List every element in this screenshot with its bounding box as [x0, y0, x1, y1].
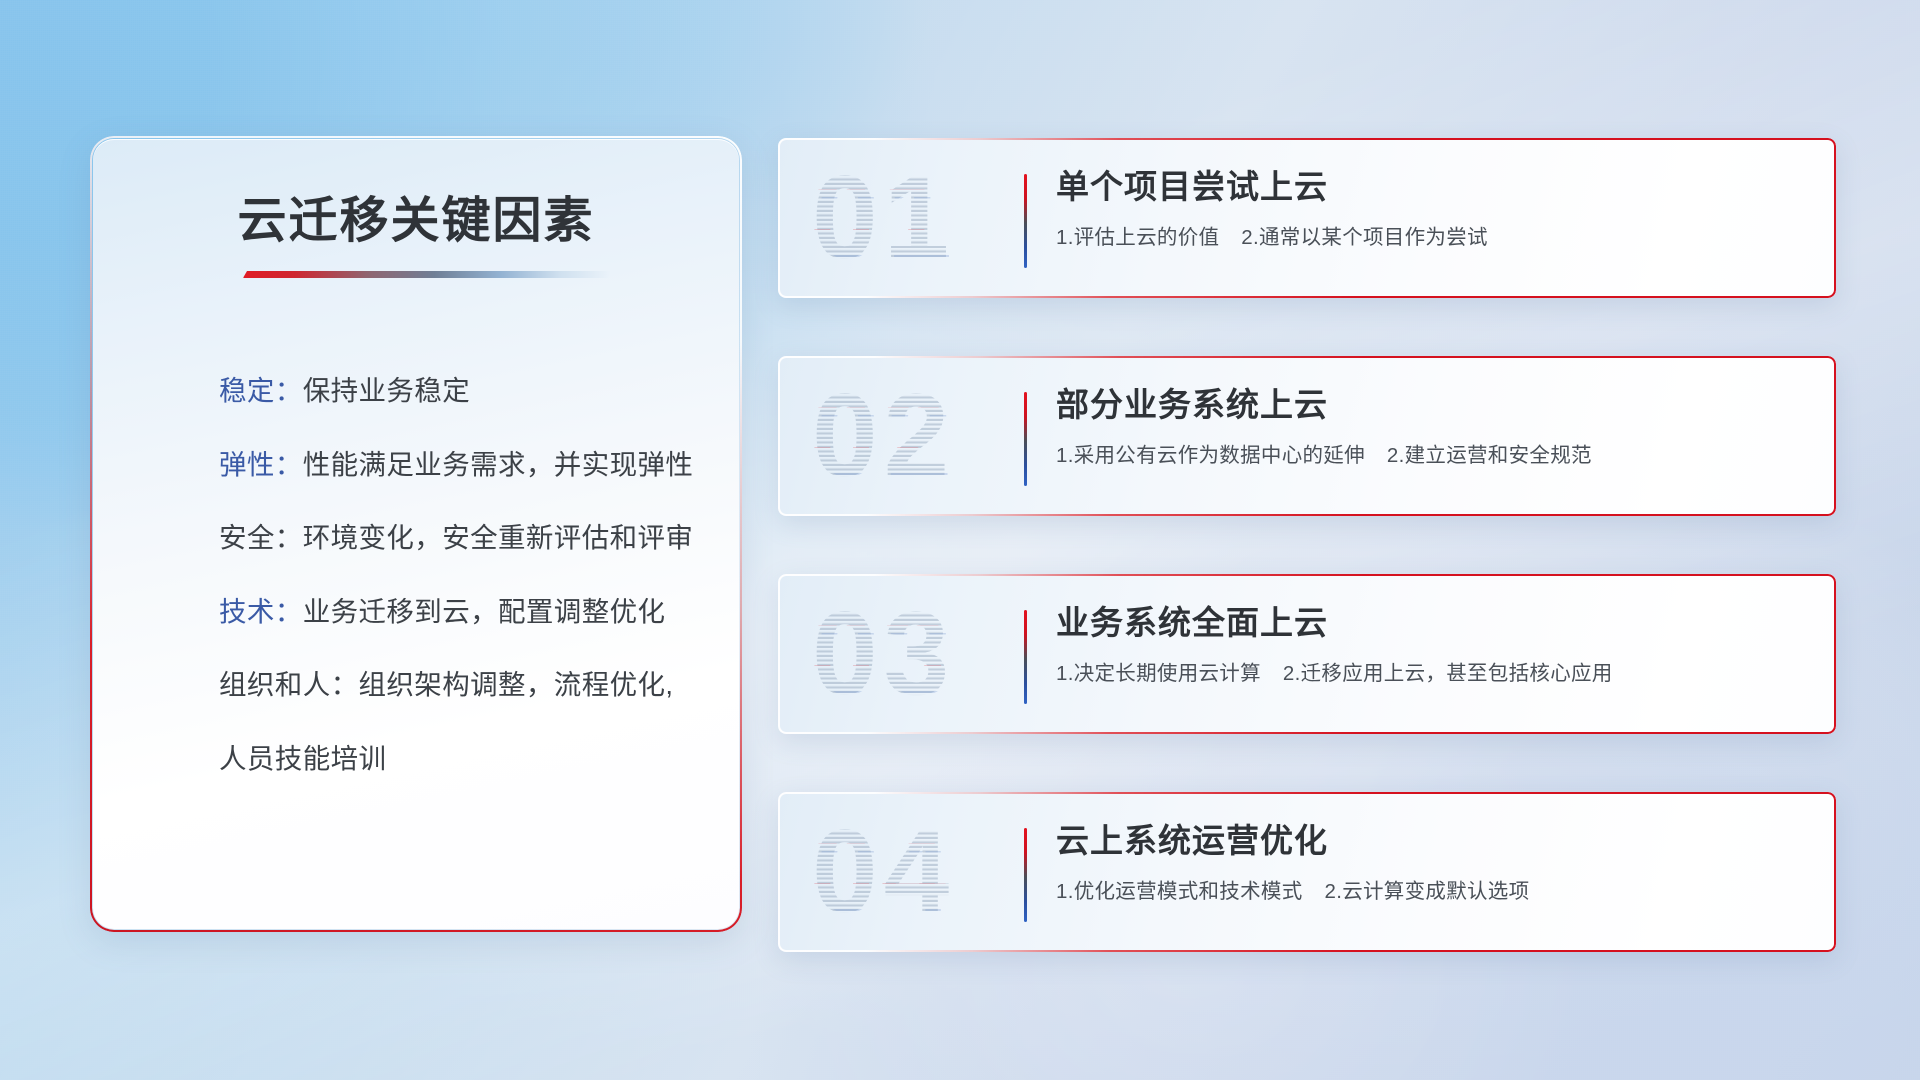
stage-number-glitch-blue: 01 — [815, 152, 1045, 284]
key-factor-row: 弹性：性能满足业务需求，并实现弹性 — [219, 451, 703, 479]
key-factor-text: 保持业务稳定 — [303, 375, 470, 406]
key-factor-label: 弹性： — [219, 449, 303, 480]
stage-accent-bar — [1024, 828, 1027, 922]
stage-point-1: 1.采用公有云作为数据中心的延伸 — [1056, 444, 1365, 467]
key-factor-text: 性能满足业务需求，并实现弹性 — [303, 449, 694, 480]
stage-number: 010101 — [812, 152, 1042, 284]
key-factor-label: 组织和人： — [219, 669, 359, 700]
stage-point-2: 2.建立运营和安全规范 — [1387, 444, 1592, 467]
stages-card-list: 010101单个项目尝试上云1.评估上云的价值2.通常以某个项目作为尝试0202… — [778, 138, 1836, 952]
stage-accent-bar — [1024, 610, 1027, 704]
stage-number-glitch-blue: 03 — [815, 588, 1045, 720]
stage-number-glitch-blue: 02 — [815, 370, 1045, 502]
stage-accent-bar — [1024, 174, 1027, 268]
page-title: 云迁移关键因素 — [93, 181, 739, 252]
stage-number: 030303 — [812, 588, 1042, 720]
stage-card[interactable]: 040404云上系统运营优化1.优化运营模式和技术模式2.云计算变成默认选项 — [778, 792, 1836, 952]
key-factor-text: 人员技能培训 — [219, 743, 386, 774]
title-divider — [243, 271, 611, 278]
stage-number: 040404 — [812, 806, 1042, 938]
key-factor-row: 安全：环境变化，安全重新评估和评审 — [219, 524, 703, 552]
stage-title: 单个项目尝试上云 — [1056, 168, 1810, 207]
stage-point-1: 1.优化运营模式和技术模式 — [1056, 880, 1303, 903]
stage-accent-bar — [1024, 392, 1027, 486]
stage-point-2: 2.迁移应用上云，甚至包括核心应用 — [1283, 662, 1613, 685]
stage-card-text: 部分业务系统上云1.采用公有云作为数据中心的延伸2.建立运营和安全规范 — [1056, 386, 1810, 468]
key-factors-panel: 云迁移关键因素 稳定：保持业务稳定弹性：性能满足业务需求，并实现弹性安全：环境变… — [92, 138, 740, 930]
stage-title: 云上系统运营优化 — [1056, 822, 1810, 861]
stage-title: 业务系统全面上云 — [1056, 604, 1810, 643]
key-factor-text: 业务迁移到云，配置调整优化 — [303, 596, 666, 627]
stage-points: 1.评估上云的价值2.通常以某个项目作为尝试 — [1056, 220, 1810, 250]
stage-card-text: 云上系统运营优化1.优化运营模式和技术模式2.云计算变成默认选项 — [1056, 822, 1810, 904]
stage-points: 1.优化运营模式和技术模式2.云计算变成默认选项 — [1056, 874, 1810, 904]
stage-point-2: 2.云计算变成默认选项 — [1325, 880, 1530, 903]
stage-title: 部分业务系统上云 — [1056, 386, 1810, 425]
stage-card[interactable]: 010101单个项目尝试上云1.评估上云的价值2.通常以某个项目作为尝试 — [778, 138, 1836, 298]
stage-number: 020202 — [812, 370, 1042, 502]
key-factor-row: 人员技能培训 — [219, 745, 703, 773]
stage-point-2: 2.通常以某个项目作为尝试 — [1241, 226, 1488, 249]
key-factor-label: 技术： — [219, 596, 303, 627]
key-factor-label: 安全： — [219, 522, 303, 553]
stage-card[interactable]: 030303业务系统全面上云1.决定长期使用云计算2.迁移应用上云，甚至包括核心… — [778, 574, 1836, 734]
key-factor-text: 环境变化，安全重新评估和评审 — [303, 522, 694, 553]
stage-card-text: 业务系统全面上云1.决定长期使用云计算2.迁移应用上云，甚至包括核心应用 — [1056, 604, 1810, 686]
stage-point-1: 1.评估上云的价值 — [1056, 226, 1219, 249]
stage-number-glitch-blue: 04 — [815, 806, 1045, 938]
stage-point-1: 1.决定长期使用云计算 — [1056, 662, 1261, 685]
key-factor-label: 稳定： — [219, 375, 303, 406]
stage-card[interactable]: 020202部分业务系统上云1.采用公有云作为数据中心的延伸2.建立运营和安全规… — [778, 356, 1836, 516]
key-factor-row: 组织和人：组织架构调整，流程优化, — [219, 671, 703, 699]
key-factor-row: 稳定：保持业务稳定 — [219, 377, 703, 405]
stage-card-text: 单个项目尝试上云1.评估上云的价值2.通常以某个项目作为尝试 — [1056, 168, 1810, 250]
key-factor-text: 组织架构调整，流程优化, — [359, 669, 674, 700]
stage-points: 1.采用公有云作为数据中心的延伸2.建立运营和安全规范 — [1056, 438, 1810, 468]
stage-points: 1.决定长期使用云计算2.迁移应用上云，甚至包括核心应用 — [1056, 656, 1810, 686]
key-factor-row: 技术：业务迁移到云，配置调整优化 — [219, 598, 703, 626]
key-factors-list: 稳定：保持业务稳定弹性：性能满足业务需求，并实现弹性安全：环境变化，安全重新评估… — [219, 377, 703, 772]
